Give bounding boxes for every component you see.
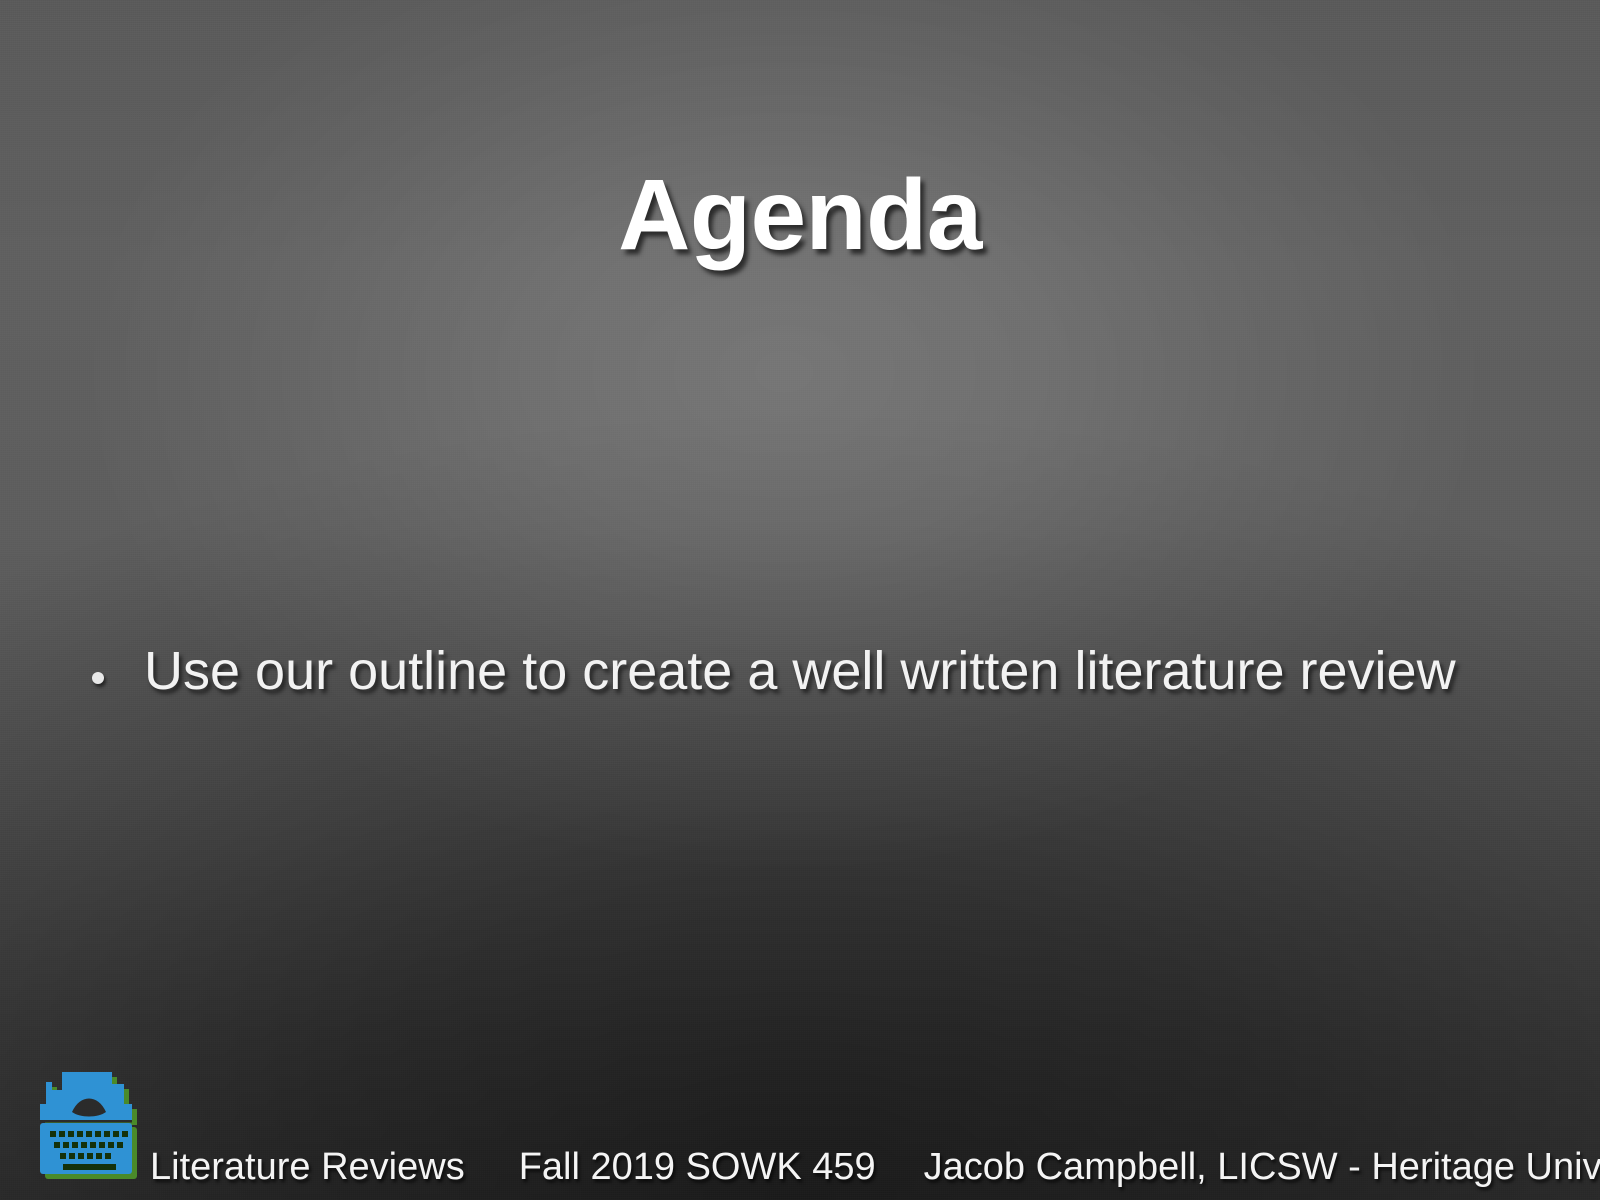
footer-text-row: Literature Reviews Fall 2019 SOWK 459 Ja… (150, 1148, 1600, 1186)
typewriter-icon (36, 1068, 144, 1192)
slide-footer: Literature Reviews Fall 2019 SOWK 459 Ja… (0, 1060, 1600, 1200)
bullet-list-item-text: Use our outline to create a well written… (144, 640, 1540, 704)
presentation-slide: Agenda Use our outline to create a well … (0, 0, 1600, 1200)
bullet-list-item: Use our outline to create a well written… (92, 640, 1540, 704)
slide-title: Agenda (0, 165, 1600, 265)
footer-term-course: Fall 2019 SOWK 459 (519, 1148, 876, 1186)
bullet-point-icon (92, 672, 104, 684)
slide-body-bullet-list: Use our outline to create a well written… (92, 640, 1540, 704)
footer-course-title: Literature Reviews (150, 1148, 465, 1186)
footer-author: Jacob Campbell, LICSW - Heritage Univers… (924, 1148, 1600, 1186)
